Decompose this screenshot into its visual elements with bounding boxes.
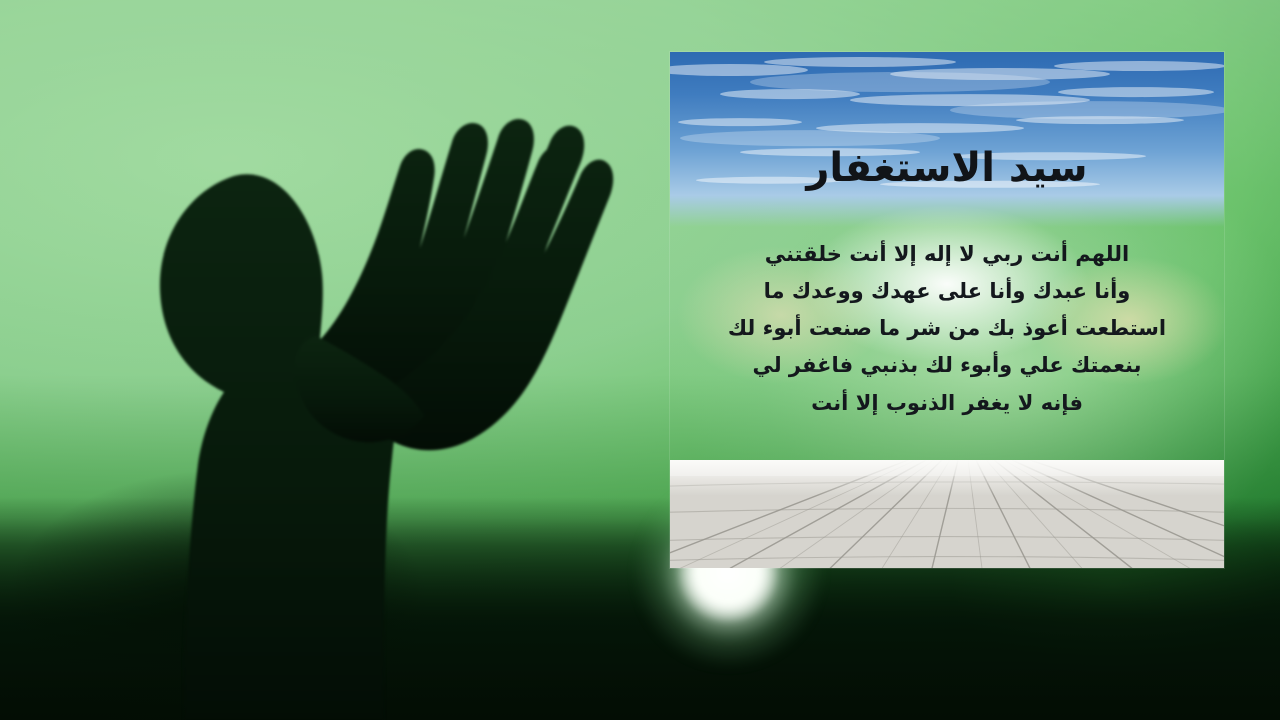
dua-title: سيد الاستغفار (806, 148, 1087, 188)
dua-line-1: اللهم أنت ربي لا إله إلا أنت خلقتني (765, 242, 1130, 266)
dua-line-4: بنعمتك علي وأبوء لك بذنبي فاغفر لي (752, 353, 1141, 377)
dua-lines: اللهم أنت ربي لا إله إلا أنت خلقتني وأنا… (670, 242, 1224, 415)
poster-canvas: سيد الاستغفار اللهم أنت ربي لا إله إلا أ… (0, 0, 1280, 720)
dua-text-block: سيد الاستغفار اللهم أنت ربي لا إله إلا أ… (670, 52, 1224, 568)
dua-line-2: وأنا عبدك وأنا على عهدك ووعدك ما (764, 279, 1131, 303)
dua-line-3: استطعت أعوذ بك من شر ما صنعت أبوء لك (728, 316, 1166, 340)
dua-card: سيد الاستغفار اللهم أنت ربي لا إله إلا أ… (670, 52, 1224, 568)
dua-line-5: فإنه لا يغفر الذنوب إلا أنت (811, 391, 1083, 415)
praying-child-silhouette (84, 58, 644, 720)
